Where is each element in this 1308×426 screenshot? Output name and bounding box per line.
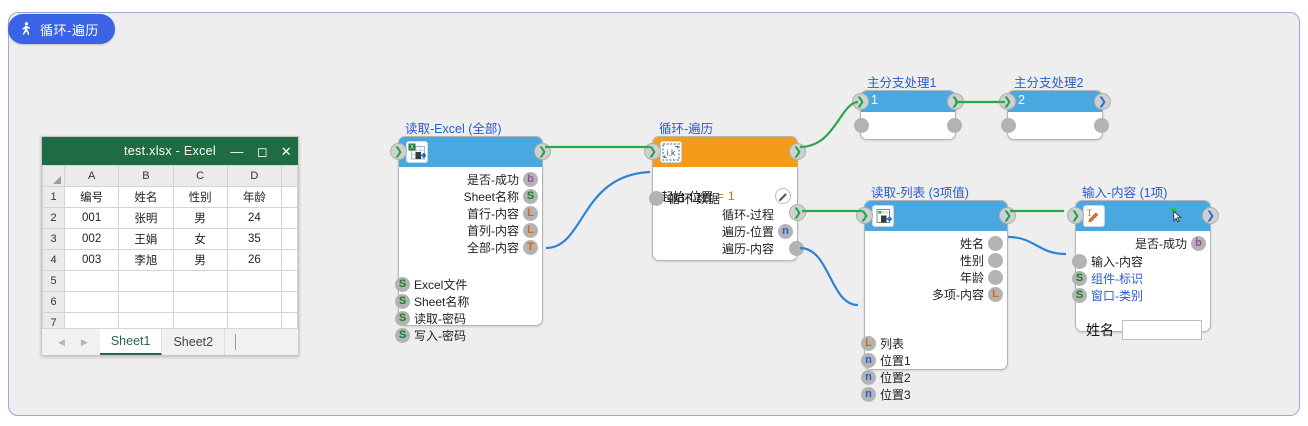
node-loop-header[interactable]: i,k xyxy=(653,137,797,167)
row-header[interactable]: 1 xyxy=(43,187,65,208)
sheet-tab-sheet2[interactable]: Sheet2 xyxy=(162,329,225,355)
tab-loop-traverse[interactable]: 循环-遍历 xyxy=(8,14,115,44)
excel-export-icon: X xyxy=(406,141,428,163)
node-branch2-title: 主分支处理2 xyxy=(1014,72,1083,91)
grid-cell[interactable] xyxy=(65,292,119,313)
node-read-excel-header[interactable]: X xyxy=(399,137,542,167)
grid-cell[interactable]: 编号 xyxy=(65,187,119,208)
read-list-output-port[interactable] xyxy=(988,253,1003,268)
excel-sheet-tabs[interactable]: ◀ ▶ Sheet1 Sheet2 xyxy=(42,328,298,355)
input-content-output-port[interactable]: b xyxy=(1191,236,1206,251)
table-row[interactable]: 5 xyxy=(43,271,298,292)
row-header[interactable]: 2 xyxy=(43,208,65,229)
input-content-output-label: 是否-成功 xyxy=(1135,238,1187,250)
loop-input-row: 循环-数据 xyxy=(645,190,795,207)
loop-content-output-row: 遍历-内容 xyxy=(653,240,797,257)
node-loop-traverse[interactable]: 循环-遍历 i,k 循环-数据起始-位置=1循环-过程遍历-位置n遍历-内容 ❯… xyxy=(652,136,798,261)
node-read-excel-body: 是否-成功bSheet名称S首行-内容L首列-内容L全部-内容TSExcel文件… xyxy=(399,167,542,256)
grid-cell-tail[interactable] xyxy=(282,229,298,250)
tab-label: 循环-遍历 xyxy=(40,20,99,39)
read-list-input-port[interactable]: n xyxy=(861,353,876,368)
input-content-input-row: S组件-标识 xyxy=(1068,270,1218,287)
read-excel-input-row: S读取-密码 xyxy=(391,310,541,327)
read-list-output-row: 姓名 xyxy=(865,235,1007,252)
grid-cell[interactable] xyxy=(119,271,173,292)
read-excel-flow-in[interactable]: ❯ xyxy=(390,143,407,160)
read-list-output-port[interactable]: L xyxy=(988,287,1003,302)
read-list-input-label: 位置3 xyxy=(880,389,911,401)
col-header-D[interactable]: D xyxy=(227,166,281,187)
input-content-input-port[interactable] xyxy=(1072,254,1087,269)
mouse-cursor-icon xyxy=(1169,207,1184,223)
svg-text:i,k: i,k xyxy=(667,148,676,158)
read-list-flow-in[interactable]: ❯ xyxy=(856,207,873,224)
read-excel-output-row: Sheet名称S xyxy=(399,188,542,205)
table-row[interactable]: 3002王娟女35 xyxy=(43,229,298,250)
table-row[interactable]: 4003李旭男26 xyxy=(43,250,298,271)
read-excel-input-port[interactable]: S xyxy=(395,294,410,309)
svg-text:T: T xyxy=(1087,208,1093,218)
branch1-data-out[interactable] xyxy=(947,118,962,133)
read-excel-output-label: 首列-内容 xyxy=(467,225,519,237)
loop-flow-in[interactable]: ❯ xyxy=(644,143,661,160)
sheet-nav[interactable]: ◀ ▶ xyxy=(42,329,100,355)
grid-cell-tail[interactable] xyxy=(282,271,298,292)
branch2-flow-in[interactable]: ❯ xyxy=(999,93,1016,110)
excel-sheet-grid[interactable]: ABCD1编号姓名性别年龄2001张明男243002王娟女354003李旭男26… xyxy=(42,165,298,355)
input-content-output-row: 是否-成功b xyxy=(1076,235,1210,252)
read-excel-output-label: Sheet名称 xyxy=(464,191,519,203)
read-excel-input-label: Sheet名称 xyxy=(414,296,469,308)
read-excel-output-port[interactable]: S xyxy=(523,189,538,204)
read-excel-input-label: 写入-密码 xyxy=(414,330,466,342)
loop-position-output-row: 遍历-位置n xyxy=(653,223,797,240)
col-header-C[interactable]: C xyxy=(173,166,227,187)
loop-position-output-label: 遍历-位置 xyxy=(722,226,774,238)
grid-cell-tail[interactable] xyxy=(282,208,298,229)
read-list-output-row: 多项-内容L xyxy=(865,286,1007,303)
grid-cell[interactable]: 002 xyxy=(65,229,119,250)
loop-process-output-row: 循环-过程 xyxy=(653,206,797,223)
row-header[interactable]: 3 xyxy=(43,229,65,250)
read-excel-output-port[interactable]: b xyxy=(523,172,538,187)
input-content-field-label: 姓名 xyxy=(1086,320,1114,340)
table-row[interactable]: 1编号姓名性别年龄 xyxy=(43,187,298,208)
read-list-output-label: 姓名 xyxy=(960,238,984,250)
read-list-output-label: 年龄 xyxy=(960,272,984,284)
read-excel-input-port[interactable]: S xyxy=(395,277,410,292)
node-branch1[interactable]: 主分支处理1 1 ❯ ❯ xyxy=(860,90,956,140)
table-row[interactable]: 6 xyxy=(43,292,298,313)
svg-text:X: X xyxy=(410,145,414,151)
input-content-input-label: 窗口-类别 xyxy=(1091,290,1143,302)
grid-cell[interactable]: 35 xyxy=(227,229,281,250)
node-branch2-label: 2 xyxy=(1018,93,1025,107)
branch1-data-in[interactable] xyxy=(854,118,869,133)
branch2-flow-out[interactable]: ❯ xyxy=(1094,93,1111,110)
grid-cell[interactable]: 年龄 xyxy=(227,187,281,208)
input-content-input-row: 输入-内容 xyxy=(1068,253,1218,270)
name-input[interactable] xyxy=(1122,320,1202,340)
read-list-input-label: 列表 xyxy=(880,338,904,350)
grid-cell[interactable]: 24 xyxy=(227,208,281,229)
col-header-A[interactable]: A xyxy=(65,166,119,187)
grid-cell-tail[interactable] xyxy=(282,250,298,271)
node-input-content-header[interactable]: T xyxy=(1076,201,1210,231)
read-list-output-label: 多项-内容 xyxy=(932,289,984,301)
node-branch2[interactable]: 主分支处理2 2 ❯ ❯ xyxy=(1007,90,1103,140)
read-list-output-label: 性别 xyxy=(960,255,984,267)
branch2-data-out[interactable] xyxy=(1094,118,1109,133)
read-list-output-port[interactable] xyxy=(988,270,1003,285)
grid-cell[interactable]: 001 xyxy=(65,208,119,229)
loop-flow-out[interactable]: ❯ xyxy=(789,143,806,160)
grid-cell[interactable] xyxy=(227,271,281,292)
node-input-content-body: 是否-成功b输入-内容S组件-标识S窗口-类别姓名 xyxy=(1076,231,1210,344)
grid-cell[interactable] xyxy=(227,292,281,313)
loop-content-output-label: 遍历-内容 xyxy=(722,243,774,255)
input-content-field-row[interactable]: 姓名 xyxy=(1076,314,1210,344)
loop-index-icon: i,k xyxy=(660,141,682,163)
input-content-input-label: 组件-标识 xyxy=(1091,273,1143,285)
branch1-flow-out[interactable]: ❯ xyxy=(947,93,964,110)
read-list-input-row: n位置3 xyxy=(857,386,1007,403)
grid-cell[interactable] xyxy=(173,271,227,292)
node-input-content[interactable]: 输入-内容 (1项) T 是否-成功b输入-内容S组件-标识S窗口-类别姓名 ❯… xyxy=(1075,200,1211,332)
node-read-list-header[interactable] xyxy=(865,201,1007,231)
read-excel-output-row: 首列-内容L xyxy=(399,222,542,239)
row-header[interactable]: 6 xyxy=(43,292,65,313)
grid-cell[interactable]: 李旭 xyxy=(119,250,173,271)
close-icon[interactable]: ✕ xyxy=(281,145,292,158)
loop-process-output-label: 循环-过程 xyxy=(722,209,774,221)
grid-cell[interactable]: 张明 xyxy=(119,208,173,229)
read-excel-output-port[interactable]: T xyxy=(523,240,538,255)
loop-input-label: 循环-数据 xyxy=(668,193,720,205)
read-excel-flow-out[interactable]: ❯ xyxy=(534,143,551,160)
grid-cell[interactable]: 26 xyxy=(227,250,281,271)
row-header[interactable]: 5 xyxy=(43,271,65,292)
read-list-input-port[interactable]: L xyxy=(861,336,876,351)
read-list-input-label: 位置1 xyxy=(880,355,911,367)
read-list-input-row: n位置2 xyxy=(857,369,1007,386)
node-loop-body: 循环-数据起始-位置=1循环-过程遍历-位置n遍历-内容 xyxy=(653,187,797,257)
read-excel-output-row: 全部-内容T xyxy=(399,239,542,256)
node-read-list-title: 读取-列表 (3项值) xyxy=(871,182,969,201)
node-input-content-title: 输入-内容 (1项) xyxy=(1082,182,1167,201)
node-read-list-body: 姓名性别年龄多项-内容LL列表n位置1n位置2n位置3 xyxy=(865,231,1007,303)
read-excel-input-row: SSheet名称 xyxy=(391,293,541,310)
grid-cell[interactable]: 003 xyxy=(65,250,119,271)
maximize-icon[interactable]: ◻ xyxy=(257,145,268,158)
walking-person-icon xyxy=(18,21,33,37)
read-list-output-port[interactable] xyxy=(988,236,1003,251)
input-content-input-label: 输入-内容 xyxy=(1091,256,1143,268)
read-excel-output-label: 全部-内容 xyxy=(467,242,519,254)
excel-window[interactable]: test.xlsx - Excel — ◻ ✕ ABCD1编号姓名性别年龄200… xyxy=(41,136,299,356)
node-branch1-header[interactable]: 1 xyxy=(861,91,955,112)
prev-sheet-icon[interactable]: ◀ xyxy=(58,337,65,348)
input-content-input-port[interactable]: S xyxy=(1072,271,1087,286)
sheet-tabs-divider xyxy=(235,334,236,350)
branch1-flow-in[interactable]: ❯ xyxy=(852,93,869,110)
node-read-excel-title: 读取-Excel (全部) xyxy=(405,118,502,137)
node-read-list[interactable]: 读取-列表 (3项值) 姓名性别年龄多项-内容LL列表n位置1n位置2n位置3 … xyxy=(864,200,1008,370)
read-excel-input-label: Excel文件 xyxy=(414,279,467,291)
branch2-data-in[interactable] xyxy=(1001,118,1016,133)
loop-position-output-port[interactable]: n xyxy=(778,224,793,239)
minimize-icon[interactable]: — xyxy=(230,145,243,158)
read-excel-input-row: SExcel文件 xyxy=(391,276,541,293)
table-row[interactable]: 2001张明男24 xyxy=(43,208,298,229)
input-content-input-row: S窗口-类别 xyxy=(1068,287,1218,304)
read-excel-output-label: 是否-成功 xyxy=(467,174,519,186)
excel-title-text: test.xlsx - Excel xyxy=(124,144,216,158)
grid-cell[interactable]: 姓名 xyxy=(119,187,173,208)
read-excel-output-port[interactable]: L xyxy=(523,206,538,221)
grid-cell[interactable]: 女 xyxy=(173,229,227,250)
loop-content-data-out[interactable] xyxy=(789,241,804,256)
read-excel-input-port[interactable]: S xyxy=(395,328,410,343)
excel-titlebar: test.xlsx - Excel — ◻ ✕ xyxy=(42,137,298,165)
grid-cell[interactable]: 男 xyxy=(173,208,227,229)
read-excel-input-row: S写入-密码 xyxy=(391,327,541,344)
grid-cell[interactable] xyxy=(119,292,173,313)
row-header[interactable]: 4 xyxy=(43,250,65,271)
grid-cell[interactable]: 性别 xyxy=(173,187,227,208)
read-list-output-row: 性别 xyxy=(865,252,1007,269)
col-header-B[interactable]: B xyxy=(119,166,173,187)
list-export-icon xyxy=(872,205,894,227)
loop-process-flow-out[interactable]: ❯ xyxy=(789,204,806,221)
grid-cell[interactable] xyxy=(173,292,227,313)
read-excel-input-label: 读取-密码 xyxy=(414,313,466,325)
col-header-tail xyxy=(282,166,298,187)
read-list-flow-out[interactable]: ❯ xyxy=(999,207,1016,224)
node-branch1-label: 1 xyxy=(871,93,878,107)
loop-input-port[interactable] xyxy=(649,191,664,206)
read-list-input-label: 位置2 xyxy=(880,372,911,384)
read-excel-output-port[interactable]: L xyxy=(523,223,538,238)
read-excel-output-row: 是否-成功b xyxy=(399,171,542,188)
read-list-output-row: 年龄 xyxy=(865,269,1007,286)
next-sheet-icon[interactable]: ▶ xyxy=(81,337,88,348)
input-content-flow-out[interactable]: ❯ xyxy=(1202,207,1219,224)
input-content-input-port[interactable]: S xyxy=(1072,288,1087,303)
grid-cell[interactable] xyxy=(65,271,119,292)
input-content-flow-in[interactable]: ❯ xyxy=(1067,207,1084,224)
read-list-input-row: L列表 xyxy=(857,335,1007,352)
read-list-input-port[interactable]: n xyxy=(861,387,876,402)
grid-cell-tail[interactable] xyxy=(282,187,298,208)
grid-cell[interactable]: 男 xyxy=(173,250,227,271)
read-excel-input-port[interactable]: S xyxy=(395,311,410,326)
node-branch2-header[interactable]: 2 xyxy=(1008,91,1102,112)
sheet-tab-sheet1[interactable]: Sheet1 xyxy=(100,329,163,355)
text-edit-icon: T xyxy=(1083,205,1105,227)
read-list-input-port[interactable]: n xyxy=(861,370,876,385)
grid-cell-tail[interactable] xyxy=(282,292,298,313)
grid-cell[interactable]: 王娟 xyxy=(119,229,173,250)
grid-corner[interactable] xyxy=(43,166,65,187)
node-loop-title: 循环-遍历 xyxy=(659,118,713,137)
read-list-input-row: n位置1 xyxy=(857,352,1007,369)
node-read-excel[interactable]: 读取-Excel (全部) X 是否-成功bSheet名称S首行-内容L首列-内… xyxy=(398,136,543,326)
node-branch1-title: 主分支处理1 xyxy=(867,72,936,91)
read-excel-output-row: 首行-内容L xyxy=(399,205,542,222)
read-excel-output-label: 首行-内容 xyxy=(467,208,519,220)
